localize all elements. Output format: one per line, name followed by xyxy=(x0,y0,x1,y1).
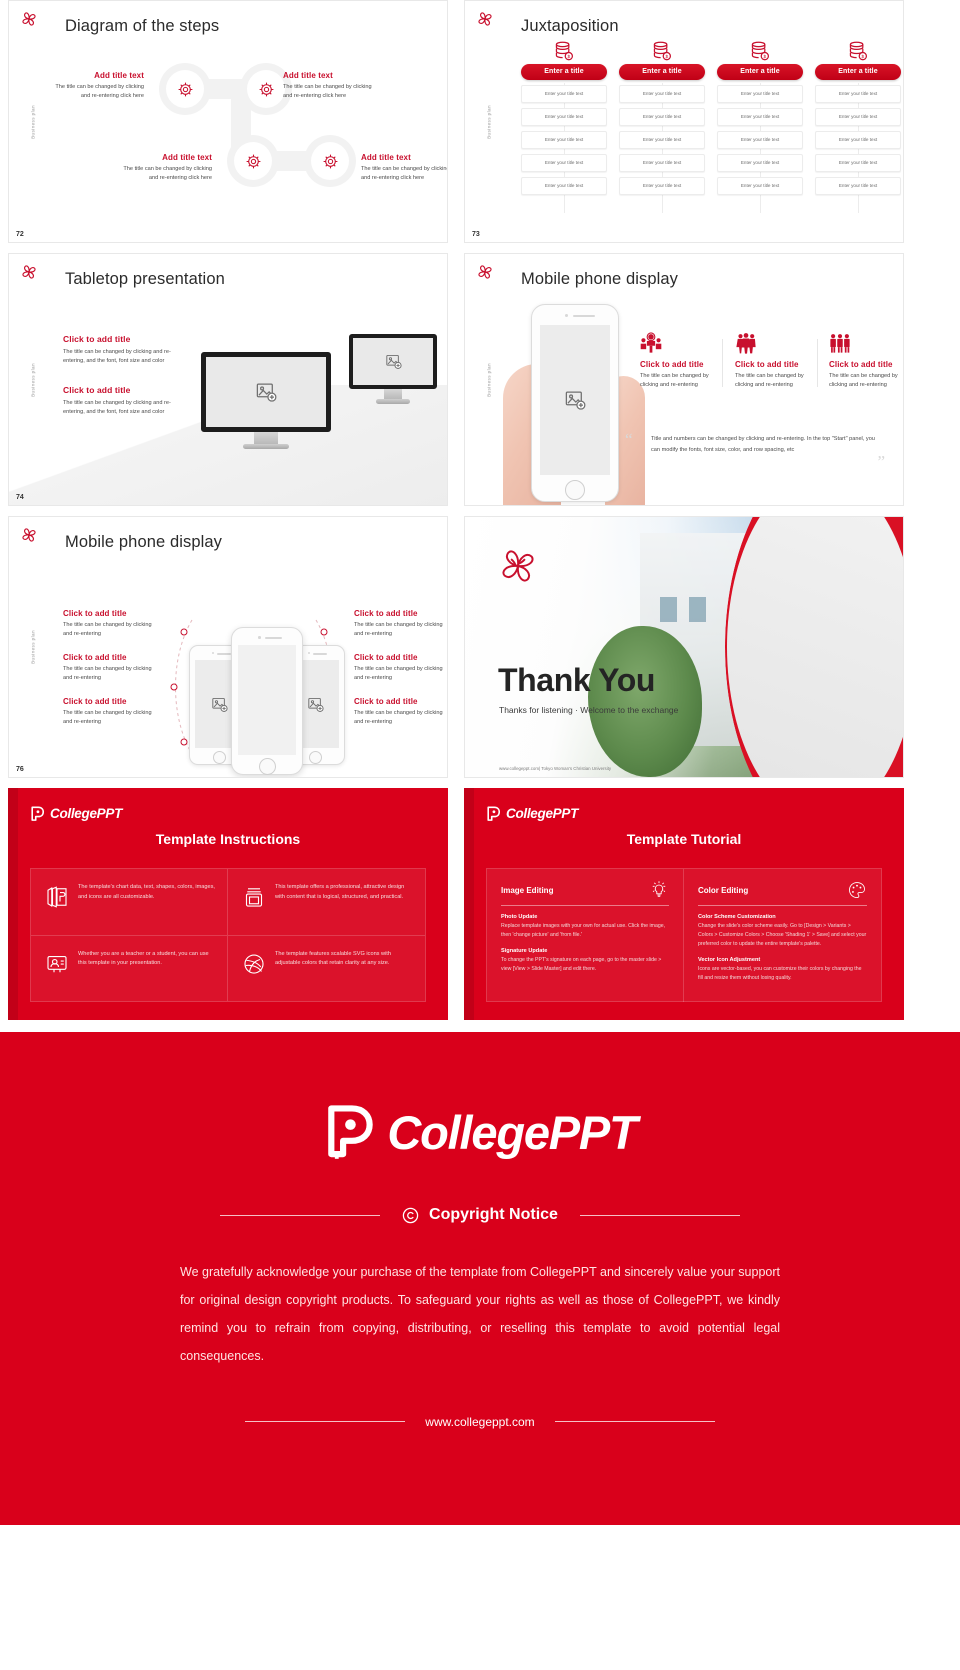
copyright-body: We gratefully acknowledge your purchase … xyxy=(180,1258,780,1371)
phone-camera-icon xyxy=(565,314,568,317)
tabletop-text-1[interactable]: Click to add title The title can be chan… xyxy=(63,334,183,366)
thank-you-credit: www.collegeppt.com| Tokyo Woman's Christ… xyxy=(499,766,611,771)
coin-stack-icon: $ xyxy=(847,41,869,61)
phone-speaker-icon xyxy=(313,653,327,655)
slide-thank-you[interactable]: Thank You Thanks for listening · Welcome… xyxy=(464,516,904,778)
tabletop-body: The title can be changed by clicking and… xyxy=(63,348,183,366)
panel-left-stripe xyxy=(8,788,18,1020)
thank-you-headline: Thank You xyxy=(498,662,655,699)
juxtaposition-column[interactable]: $ Enter a title Enter your title text En… xyxy=(815,41,901,195)
tutorial-heading-row: Color Editing xyxy=(698,880,867,900)
juxtaposition-cell[interactable]: Enter your title text xyxy=(619,131,705,149)
feature-divider xyxy=(817,339,818,387)
trio-body: The title can be changed by clicking and… xyxy=(354,665,448,683)
copyright-footer-row: www.collegeppt.com xyxy=(0,1415,960,1429)
svg-text:$: $ xyxy=(763,54,766,60)
juxtaposition-cell[interactable]: Enter your title text xyxy=(815,131,901,149)
page-number: 76 xyxy=(16,766,24,773)
gear-icon xyxy=(258,81,275,98)
feature-body: The title can be changed by clicking and… xyxy=(829,372,904,390)
tabletop-text-2[interactable]: Click to add title The title can be chan… xyxy=(63,385,183,417)
juxtaposition-cell[interactable]: Enter your title text xyxy=(815,85,901,103)
coin-stack-icon: $ xyxy=(651,41,673,61)
trio-title: Click to add title xyxy=(63,697,161,706)
tutorial-subhead: Vector Icon Adjustment xyxy=(698,957,867,963)
gear-icon xyxy=(177,81,194,98)
step-title: Add title text xyxy=(117,153,212,162)
monitor-small-screen[interactable] xyxy=(349,334,437,389)
phone-speaker-icon xyxy=(217,653,231,655)
quote-close-icon: ” xyxy=(877,454,885,472)
thank-you-subtitle: Thanks for listening · Welcome to the ex… xyxy=(499,705,678,715)
step-node-1-inner xyxy=(166,70,204,108)
step-body: The title can be changed by clicking and… xyxy=(361,165,448,183)
step-node-4-inner xyxy=(311,142,349,180)
panel-left-stripe xyxy=(464,788,474,1020)
phone-device-center[interactable] xyxy=(231,627,303,775)
trio-body: The title can be changed by clicking and… xyxy=(63,665,161,683)
phone-camera-icon xyxy=(308,652,310,654)
trio-right-item-1[interactable]: Click to add title The title can be chan… xyxy=(354,609,448,639)
ppt-file-icon xyxy=(45,885,69,909)
slide-title: Tabletop presentation xyxy=(65,270,225,289)
step-title: Add title text xyxy=(283,71,378,80)
feature-item-3[interactable]: Click to add title The title can be chan… xyxy=(829,332,904,390)
swirl-logo-icon xyxy=(18,524,40,546)
trio-title: Click to add title xyxy=(63,653,161,662)
tutorial-grid: Image Editing Photo Update Replace templ… xyxy=(486,868,882,1002)
trio-title: Click to add title xyxy=(354,609,448,618)
juxtaposition-cell[interactable]: Enter your title text xyxy=(717,85,803,103)
juxtaposition-title-button[interactable]: Enter a title xyxy=(521,64,607,80)
phone-home-button[interactable] xyxy=(309,751,322,764)
phone-screen[interactable] xyxy=(540,325,610,475)
step-text-4[interactable]: Add title text The title can be changed … xyxy=(361,153,448,183)
instruction-text: This template offers a professional, att… xyxy=(275,883,413,903)
slide-mobile-phone-display-hand[interactable]: Business plan Mobile phone display xyxy=(464,253,904,506)
box-icon xyxy=(242,885,266,909)
website-url[interactable]: www.collegeppt.com xyxy=(425,1415,534,1429)
step-body: The title can be changed by clicking and… xyxy=(283,83,378,101)
juxtaposition-cell[interactable]: Enter your title text xyxy=(619,85,705,103)
collegeppt-p-mark-icon xyxy=(486,806,501,821)
brand-name: CollegePPT xyxy=(50,806,122,821)
brand-lockup: CollegePPT xyxy=(486,806,578,821)
add-image-icon xyxy=(255,381,277,403)
phone-device[interactable] xyxy=(531,304,619,502)
juxtaposition-title-button[interactable]: Enter a title xyxy=(619,64,705,80)
swirl-logo-icon xyxy=(474,261,496,283)
tutorial-heading: Color Editing xyxy=(698,886,748,895)
juxtaposition-cell[interactable]: Enter your title text xyxy=(619,108,705,126)
step-node-2-inner xyxy=(247,70,285,108)
instruction-card[interactable]: This template offers a professional, att… xyxy=(228,869,425,936)
palette-icon xyxy=(847,880,867,900)
add-image-icon xyxy=(385,353,402,370)
swirl-logo-icon xyxy=(495,543,541,589)
copyright-section: CollegePPT Copyright Notice We gratefull… xyxy=(0,1032,960,1525)
divider-left xyxy=(220,1215,380,1216)
juxtaposition-cell[interactable]: Enter your title text xyxy=(815,177,901,195)
slide-title: Juxtaposition xyxy=(521,17,619,36)
slide-side-label: Business plan xyxy=(486,105,491,139)
copyright-heading-row: Copyright Notice xyxy=(0,1206,960,1224)
panel-title: Template Tutorial xyxy=(464,831,904,847)
trio-left-item-2[interactable]: Click to add title The title can be chan… xyxy=(63,653,161,683)
feature-divider xyxy=(722,339,723,387)
monitor-small[interactable] xyxy=(349,334,437,404)
phone-camera-icon xyxy=(258,636,261,639)
slide-title: Mobile phone display xyxy=(65,533,222,552)
add-image-icon xyxy=(211,696,228,713)
monitor-large-neck xyxy=(254,432,278,444)
panel-template-tutorial[interactable]: CollegePPT Template Tutorial Image Editi… xyxy=(464,788,904,1020)
slide-row-3: Business plan Mobile phone display Click… xyxy=(0,516,960,778)
tabletop-title: Click to add title xyxy=(63,385,183,395)
divider-right xyxy=(580,1215,740,1216)
juxtaposition-cell[interactable]: Enter your title text xyxy=(619,154,705,172)
tutorial-rule xyxy=(698,905,867,906)
juxtaposition-cell[interactable]: Enter your title text xyxy=(717,131,803,149)
page-number: 74 xyxy=(16,494,24,501)
tutorial-subhead: Color Scheme Customization xyxy=(698,914,867,920)
instruction-card[interactable]: The template features scalable SVG icons… xyxy=(228,936,425,1002)
copyright-symbol-icon xyxy=(402,1207,419,1224)
feature-body: The title can be changed by clicking and… xyxy=(735,372,817,390)
tutorial-heading-row: Image Editing xyxy=(501,880,669,900)
copyright-title: Copyright Notice xyxy=(429,1206,558,1224)
brand-lockup: CollegePPT xyxy=(30,806,122,821)
three-people-icon xyxy=(829,332,851,354)
steps-diagram: Add title text The title can be changed … xyxy=(9,1,447,242)
instruction-card[interactable]: The template's chart data, text, shapes,… xyxy=(31,869,228,936)
trio-title: Click to add title xyxy=(354,653,448,662)
step-text-3[interactable]: Add title text The title can be changed … xyxy=(117,153,212,183)
juxtaposition-cell[interactable]: Enter your title text xyxy=(521,177,607,195)
feature-title: Click to add title xyxy=(829,360,904,369)
juxtaposition-cell[interactable]: Enter your title text xyxy=(815,108,901,126)
phone-screen-center[interactable] xyxy=(238,645,296,755)
teacher-icon xyxy=(45,952,69,976)
coin-stack-icon: $ xyxy=(553,41,575,61)
collegeppt-p-mark-icon xyxy=(30,806,45,821)
trio-title: Click to add title xyxy=(354,697,448,706)
collegeppt-p-mark-icon xyxy=(323,1104,375,1160)
instruction-text: The template's chart data, text, shapes,… xyxy=(78,883,215,903)
feature-body: The title can be changed by clicking and… xyxy=(640,372,722,390)
feature-title: Click to add title xyxy=(640,360,722,369)
step-node-3-inner xyxy=(234,142,272,180)
juxtaposition-column[interactable]: $ Enter a title Enter your title text En… xyxy=(521,41,607,195)
instruction-card-grid: The template's chart data, text, shapes,… xyxy=(30,868,426,1002)
slide-juxtaposition[interactable]: Business plan Juxtaposition $ Enter a xyxy=(464,0,904,243)
group-people-icon xyxy=(735,332,757,354)
svg-text:$: $ xyxy=(567,54,570,60)
feature-item-2[interactable]: Click to add title The title can be chan… xyxy=(735,332,817,390)
step-body: The title can be changed by clicking and… xyxy=(117,165,212,183)
feature-title: Click to add title xyxy=(735,360,817,369)
juxtaposition-cell[interactable]: Enter your title text xyxy=(619,177,705,195)
monitor-small-base xyxy=(376,399,410,404)
coin-stack-icon: $ xyxy=(749,41,771,61)
brand-name: CollegePPT xyxy=(387,1105,636,1160)
step-title: Add title text xyxy=(361,153,448,162)
quote-text: Title and numbers can be changed by clic… xyxy=(651,434,881,456)
juxtaposition-title-button[interactable]: Enter a title xyxy=(815,64,901,80)
panel-template-instructions[interactable]: CollegePPT Template Instructions The tem… xyxy=(8,788,448,1020)
phone-home-button[interactable] xyxy=(259,758,276,775)
slide-side-label: Business plan xyxy=(30,363,35,397)
phone-speaker-icon xyxy=(265,637,282,639)
juxtaposition-cell[interactable]: Enter your title text xyxy=(521,154,607,172)
quote-open-icon: “ xyxy=(625,432,633,450)
add-image-icon xyxy=(564,389,586,411)
slide-tabletop-presentation[interactable]: Business plan Tabletop presentation Clic… xyxy=(8,253,448,506)
divider-right xyxy=(555,1421,715,1422)
slide-title: Mobile phone display xyxy=(521,270,678,289)
tutorial-subhead: Signature Update xyxy=(501,948,669,954)
monitor-small-neck xyxy=(384,389,402,399)
tutorial-body: Icons are vector-based, you can customiz… xyxy=(698,965,867,983)
tutorial-column-color-editing[interactable]: Color Editing Color Scheme xyxy=(684,869,881,1002)
trio-right-item-3[interactable]: Click to add title The title can be chan… xyxy=(354,697,448,727)
tutorial-subhead: Photo Update xyxy=(501,914,669,920)
presentation-contact-sheet: Business plan Diagram of the steps xyxy=(0,0,960,1525)
copyright-brand-lockup: CollegePPT xyxy=(0,1104,960,1160)
svg-text:$: $ xyxy=(665,54,668,60)
step-title: Add title text xyxy=(49,71,144,80)
slide-side-label: Business plan xyxy=(30,630,35,664)
phone-home-button[interactable] xyxy=(213,751,226,764)
phone-home-button[interactable] xyxy=(565,480,585,500)
trio-body: The title can be changed by clicking and… xyxy=(63,621,161,639)
instruction-text: The template features scalable SVG icons… xyxy=(275,950,413,970)
juxtaposition-cell[interactable]: Enter your title text xyxy=(521,85,607,103)
instruction-text: Whether you are a teacher or a student, … xyxy=(78,950,215,970)
add-image-icon xyxy=(307,696,324,713)
page-number: 72 xyxy=(16,231,24,238)
step-body: The title can be changed by clicking and… xyxy=(49,83,144,101)
juxtaposition-title-button[interactable]: Enter a title xyxy=(717,64,803,80)
trio-left-item-1[interactable]: Click to add title The title can be chan… xyxy=(63,609,161,639)
juxtaposition-cell[interactable]: Enter your title text xyxy=(521,108,607,126)
tabletop-body: The title can be changed by clicking and… xyxy=(63,399,183,417)
trio-title: Click to add title xyxy=(63,609,161,618)
trio-body: The title can be changed by clicking and… xyxy=(354,709,448,727)
panel-title: Template Instructions xyxy=(8,831,448,847)
monitor-large[interactable] xyxy=(201,352,331,449)
instruction-card[interactable]: Whether you are a teacher or a student, … xyxy=(31,936,228,1002)
slide-diagram-of-the-steps[interactable]: Business plan Diagram of the steps xyxy=(8,0,448,243)
juxtaposition-cell[interactable]: Enter your title text xyxy=(717,108,803,126)
swirl-logo-icon xyxy=(474,8,496,30)
tutorial-body: Replace template images with your own fo… xyxy=(501,922,669,940)
tabletop-title: Click to add title xyxy=(63,334,183,344)
trio-right-item-2[interactable]: Click to add title The title can be chan… xyxy=(354,653,448,683)
slide-row-2: Business plan Tabletop presentation Clic… xyxy=(0,253,960,506)
phone-camera-icon xyxy=(212,652,214,654)
juxtaposition-cell[interactable]: Enter your title text xyxy=(815,154,901,172)
lightbulb-icon xyxy=(649,880,669,900)
feature-item-1[interactable]: Click to add title The title can be chan… xyxy=(640,332,722,390)
tutorial-rule xyxy=(501,905,669,906)
arc-decoration-light xyxy=(727,516,904,778)
team-check-icon xyxy=(640,332,662,354)
juxtaposition-column[interactable]: $ Enter a title Enter your title text En… xyxy=(717,41,803,195)
slide-mobile-phone-display-trio[interactable]: Business plan Mobile phone display Click… xyxy=(8,516,448,778)
tutorial-body: To change the PPT's signature on each pa… xyxy=(501,956,669,974)
panel-row: CollegePPT Template Instructions The tem… xyxy=(0,788,960,1020)
page-number: 73 xyxy=(472,231,480,238)
step-text-2[interactable]: Add title text The title can be changed … xyxy=(283,71,378,101)
dribbble-icon xyxy=(242,952,266,976)
juxtaposition-column[interactable]: $ Enter a title Enter your title text En… xyxy=(619,41,705,195)
phone-speaker-icon xyxy=(573,315,595,317)
juxtaposition-cell[interactable]: Enter your title text xyxy=(717,177,803,195)
gear-icon xyxy=(322,153,339,170)
swirl-logo-icon xyxy=(18,261,40,283)
tutorial-column-image-editing[interactable]: Image Editing Photo Update Replace templ… xyxy=(487,869,684,1002)
trio-left-item-3[interactable]: Click to add title The title can be chan… xyxy=(63,697,161,727)
trio-body: The title can be changed by clicking and… xyxy=(63,709,161,727)
divider-left xyxy=(245,1421,405,1422)
step-text-1[interactable]: Add title text The title can be changed … xyxy=(49,71,144,101)
svg-text:$: $ xyxy=(861,54,864,60)
tutorial-body: Change the slide's color scheme easily. … xyxy=(698,922,867,949)
juxtaposition-cell[interactable]: Enter your title text xyxy=(521,131,607,149)
slide-row-1: Business plan Diagram of the steps xyxy=(0,0,960,243)
monitor-large-screen[interactable] xyxy=(201,352,331,432)
tutorial-heading: Image Editing xyxy=(501,886,553,895)
brand-name: CollegePPT xyxy=(506,806,578,821)
trio-body: The title can be changed by clicking and… xyxy=(354,621,448,639)
juxtaposition-cell[interactable]: Enter your title text xyxy=(717,154,803,172)
monitor-large-base xyxy=(243,444,289,449)
gear-icon xyxy=(245,153,262,170)
slide-side-label: Business plan xyxy=(486,363,491,397)
